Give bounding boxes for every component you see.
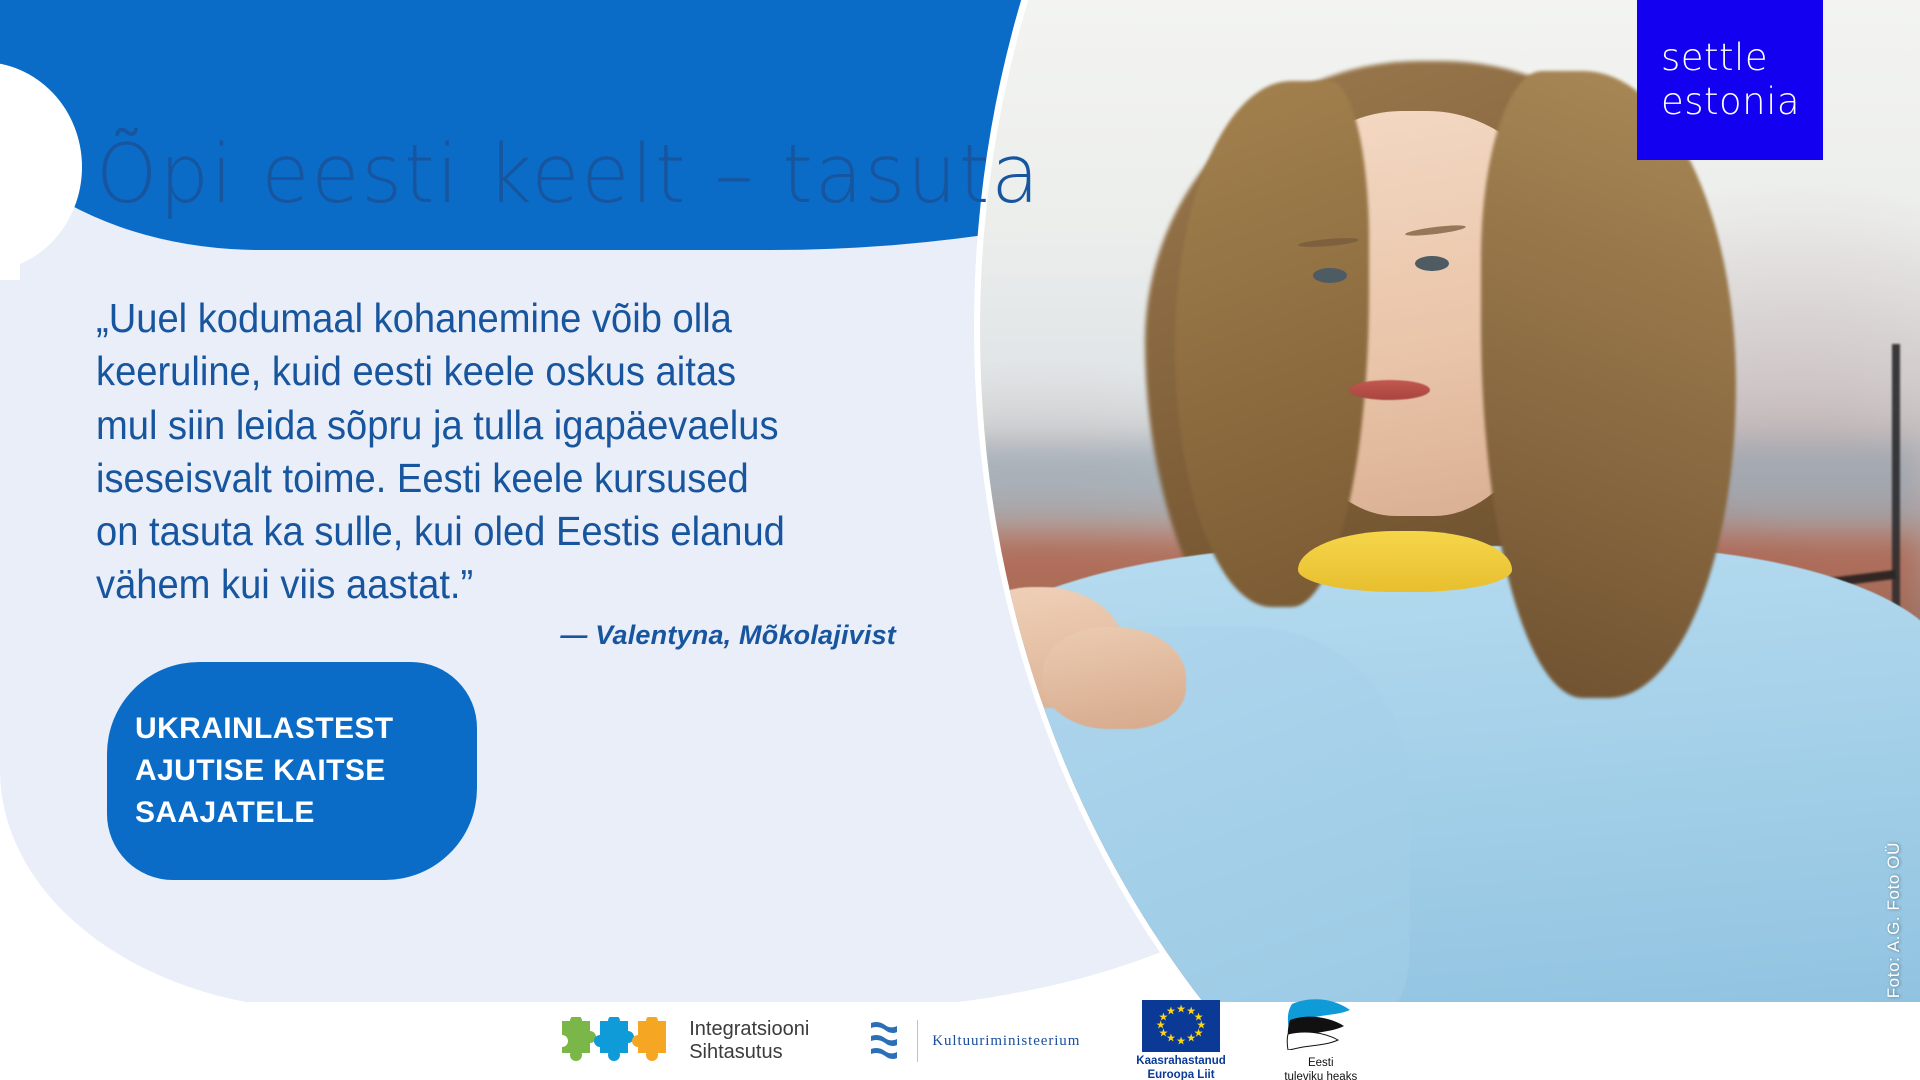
estonian-coat-of-arms-icon xyxy=(865,1017,903,1065)
ministry-name: Kultuuriministeerium xyxy=(932,1033,1080,1050)
testimonial-quote: „Uuel kodumaal kohanemine võib olla keer… xyxy=(96,292,859,612)
logo-line-estonia: estonia xyxy=(1661,80,1823,124)
footer-logo-row: Integratsiooni Sihtasutus Kultuuriminist… xyxy=(0,1002,1920,1080)
subject-eye-right xyxy=(1415,256,1449,271)
eu-logo-caption: Kaasrahastanud Euroopa Liit xyxy=(1136,1055,1225,1080)
insa-logo[interactable]: Integratsiooni Sihtasutus xyxy=(560,1017,809,1065)
puzzle-icon xyxy=(560,1017,678,1065)
insa-line-1: Integratsiooni xyxy=(689,1018,809,1041)
estonia-caption-line-2: tuleviku heaks xyxy=(1282,1071,1360,1080)
quote-line-1: „Uuel kodumaal kohanemine võib olla xyxy=(96,292,859,345)
eu-star-icon: ★ xyxy=(1166,1007,1176,1018)
quote-line-2: keeruline, kuid eesti keele oskus aitas xyxy=(96,345,859,398)
eu-star-icon: ★ xyxy=(1186,1034,1196,1045)
quote-line-3: mul siin leida sõpru ja tulla igapäevael… xyxy=(96,399,859,452)
estonia-caption-line-1: Eesti xyxy=(1282,1057,1360,1071)
photo-credit: Foto: A.G. Foto OÜ xyxy=(1884,842,1904,998)
insa-logo-text: Integratsiooni Sihtasutus xyxy=(689,1018,809,1064)
subject-hand-right xyxy=(1043,627,1186,728)
estonia-future-logo[interactable]: Eesti tuleviku heaks xyxy=(1282,998,1360,1080)
insa-line-2: Sihtasutus xyxy=(689,1041,809,1064)
quote-line-4: iseseisvalt toime. Eesti keele kursused xyxy=(96,452,859,505)
audience-badge: UKRAINLASTEST AJUTISE KAITSE SAAJATELE xyxy=(107,662,477,880)
audience-badge-text: UKRAINLASTEST AJUTISE KAITSE SAAJATELE xyxy=(107,708,394,834)
badge-line-3: SAAJATELE xyxy=(135,792,394,834)
ministry-divider xyxy=(917,1020,918,1062)
page-title: Õpi eesti keelt – tasuta xyxy=(96,128,1041,222)
estonian-flag-swoosh-icon xyxy=(1282,998,1360,1050)
badge-line-1: UKRAINLASTEST xyxy=(135,708,394,750)
eu-star-icon: ★ xyxy=(1176,1005,1186,1016)
subject-hair-left xyxy=(1175,81,1369,607)
eu-caption-line-1: Kaasrahastanud xyxy=(1136,1055,1225,1069)
eu-star-icon: ★ xyxy=(1176,1036,1186,1047)
eu-caption-line-2: Euroopa Liit xyxy=(1136,1069,1225,1080)
subject-yellow-collar xyxy=(1298,531,1512,592)
white-notch-left-fill xyxy=(0,160,20,280)
subject-hair-right xyxy=(1481,71,1736,698)
badge-line-2: AJUTISE KAITSE xyxy=(135,750,394,792)
quote-line-5: on tasuta ka sulle, kui oled Eestis elan… xyxy=(96,505,859,558)
quote-line-6: vähem kui viis aastat.” xyxy=(96,558,859,611)
logo-line-settle: settle xyxy=(1661,36,1823,80)
ministry-logo[interactable]: Kultuuriministeerium xyxy=(865,1017,1080,1065)
quote-attribution: — Valentyna, Mõkolajivist xyxy=(96,620,896,651)
poster-canvas: Foto: A.G. Foto OÜ settle estonia Õpi ee… xyxy=(0,0,1920,1080)
subject-lips xyxy=(1349,380,1431,400)
eu-logo[interactable]: ★★★★★★★★★★★★ Kaasrahastanud Euroopa Liit xyxy=(1136,1000,1225,1080)
estonia-logo-caption: Eesti tuleviku heaks xyxy=(1282,1057,1360,1080)
eu-flag-icon: ★★★★★★★★★★★★ xyxy=(1142,1000,1220,1052)
settle-estonia-logo[interactable]: settle estonia xyxy=(1637,0,1823,160)
